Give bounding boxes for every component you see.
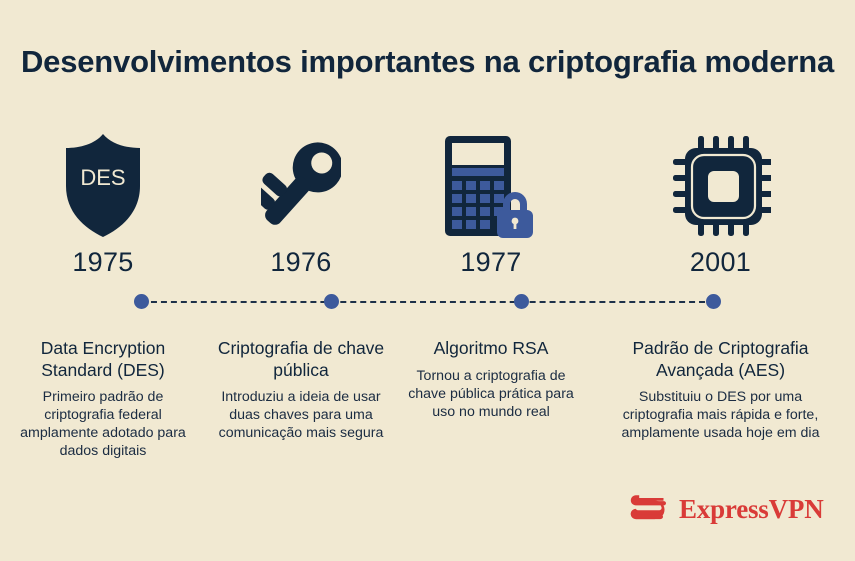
- icon-slot-4: [586, 128, 855, 238]
- milestone-heading-3: Algoritmo RSA: [396, 338, 586, 360]
- expressvpn-logo[interactable]: ExpressVPN: [630, 492, 824, 526]
- milestone-description-2: Introduziu a ideia de usar duas chaves p…: [206, 388, 396, 442]
- timeline-strip: [0, 292, 855, 312]
- milestone-heading-4: Padrão de Criptografia Avançada (AES): [586, 338, 855, 381]
- cpu-chip-icon: [671, 134, 771, 238]
- milestone-year-3: 1977: [396, 247, 586, 278]
- timeline-dot-1[interactable]: [134, 294, 149, 309]
- calculator-lock-icon: [443, 134, 539, 238]
- icon-slot-3: [396, 128, 586, 238]
- milestone-heading-1: Data Encryption Standard (DES): [0, 338, 206, 381]
- page-title: Desenvolvimentos importantes na criptogr…: [0, 44, 855, 80]
- timeline-dashed-line: [141, 301, 715, 303]
- timeline-dot-4[interactable]: [706, 294, 721, 309]
- key-icon: [261, 134, 341, 238]
- shield-des-icon: DES: [64, 134, 142, 238]
- icon-slot-1: DES: [0, 128, 206, 238]
- milestone-column-4: 2001 Padrão de Criptografia Avançada (AE…: [586, 128, 855, 442]
- milestone-description-3: Tornou a criptografia de chave pública p…: [396, 367, 586, 421]
- milestone-year-4: 2001: [586, 247, 855, 278]
- milestone-column-2: 1976 Criptografia de chave pública Intro…: [206, 128, 396, 442]
- milestone-description-4: Substituiu o DES por uma criptografia ma…: [586, 388, 855, 442]
- expressvpn-wordmark: ExpressVPN: [679, 496, 824, 523]
- milestone-year-1: 1975: [0, 247, 206, 278]
- infographic-canvas: Desenvolvimentos importantes na criptogr…: [0, 0, 855, 561]
- milestone-column-3: 1977 Algoritmo RSA Tornou a criptografia…: [396, 128, 586, 421]
- shield-des-label: DES: [80, 165, 125, 190]
- milestone-heading-2: Criptografia de chave pública: [206, 338, 396, 381]
- timeline-dot-2[interactable]: [324, 294, 339, 309]
- icon-slot-2: [206, 128, 396, 238]
- timeline-dot-3[interactable]: [514, 294, 529, 309]
- milestone-description-1: Primeiro padrão de criptografia federal …: [0, 388, 206, 460]
- milestone-year-2: 1976: [206, 247, 396, 278]
- expressvpn-mark-icon: [630, 492, 670, 526]
